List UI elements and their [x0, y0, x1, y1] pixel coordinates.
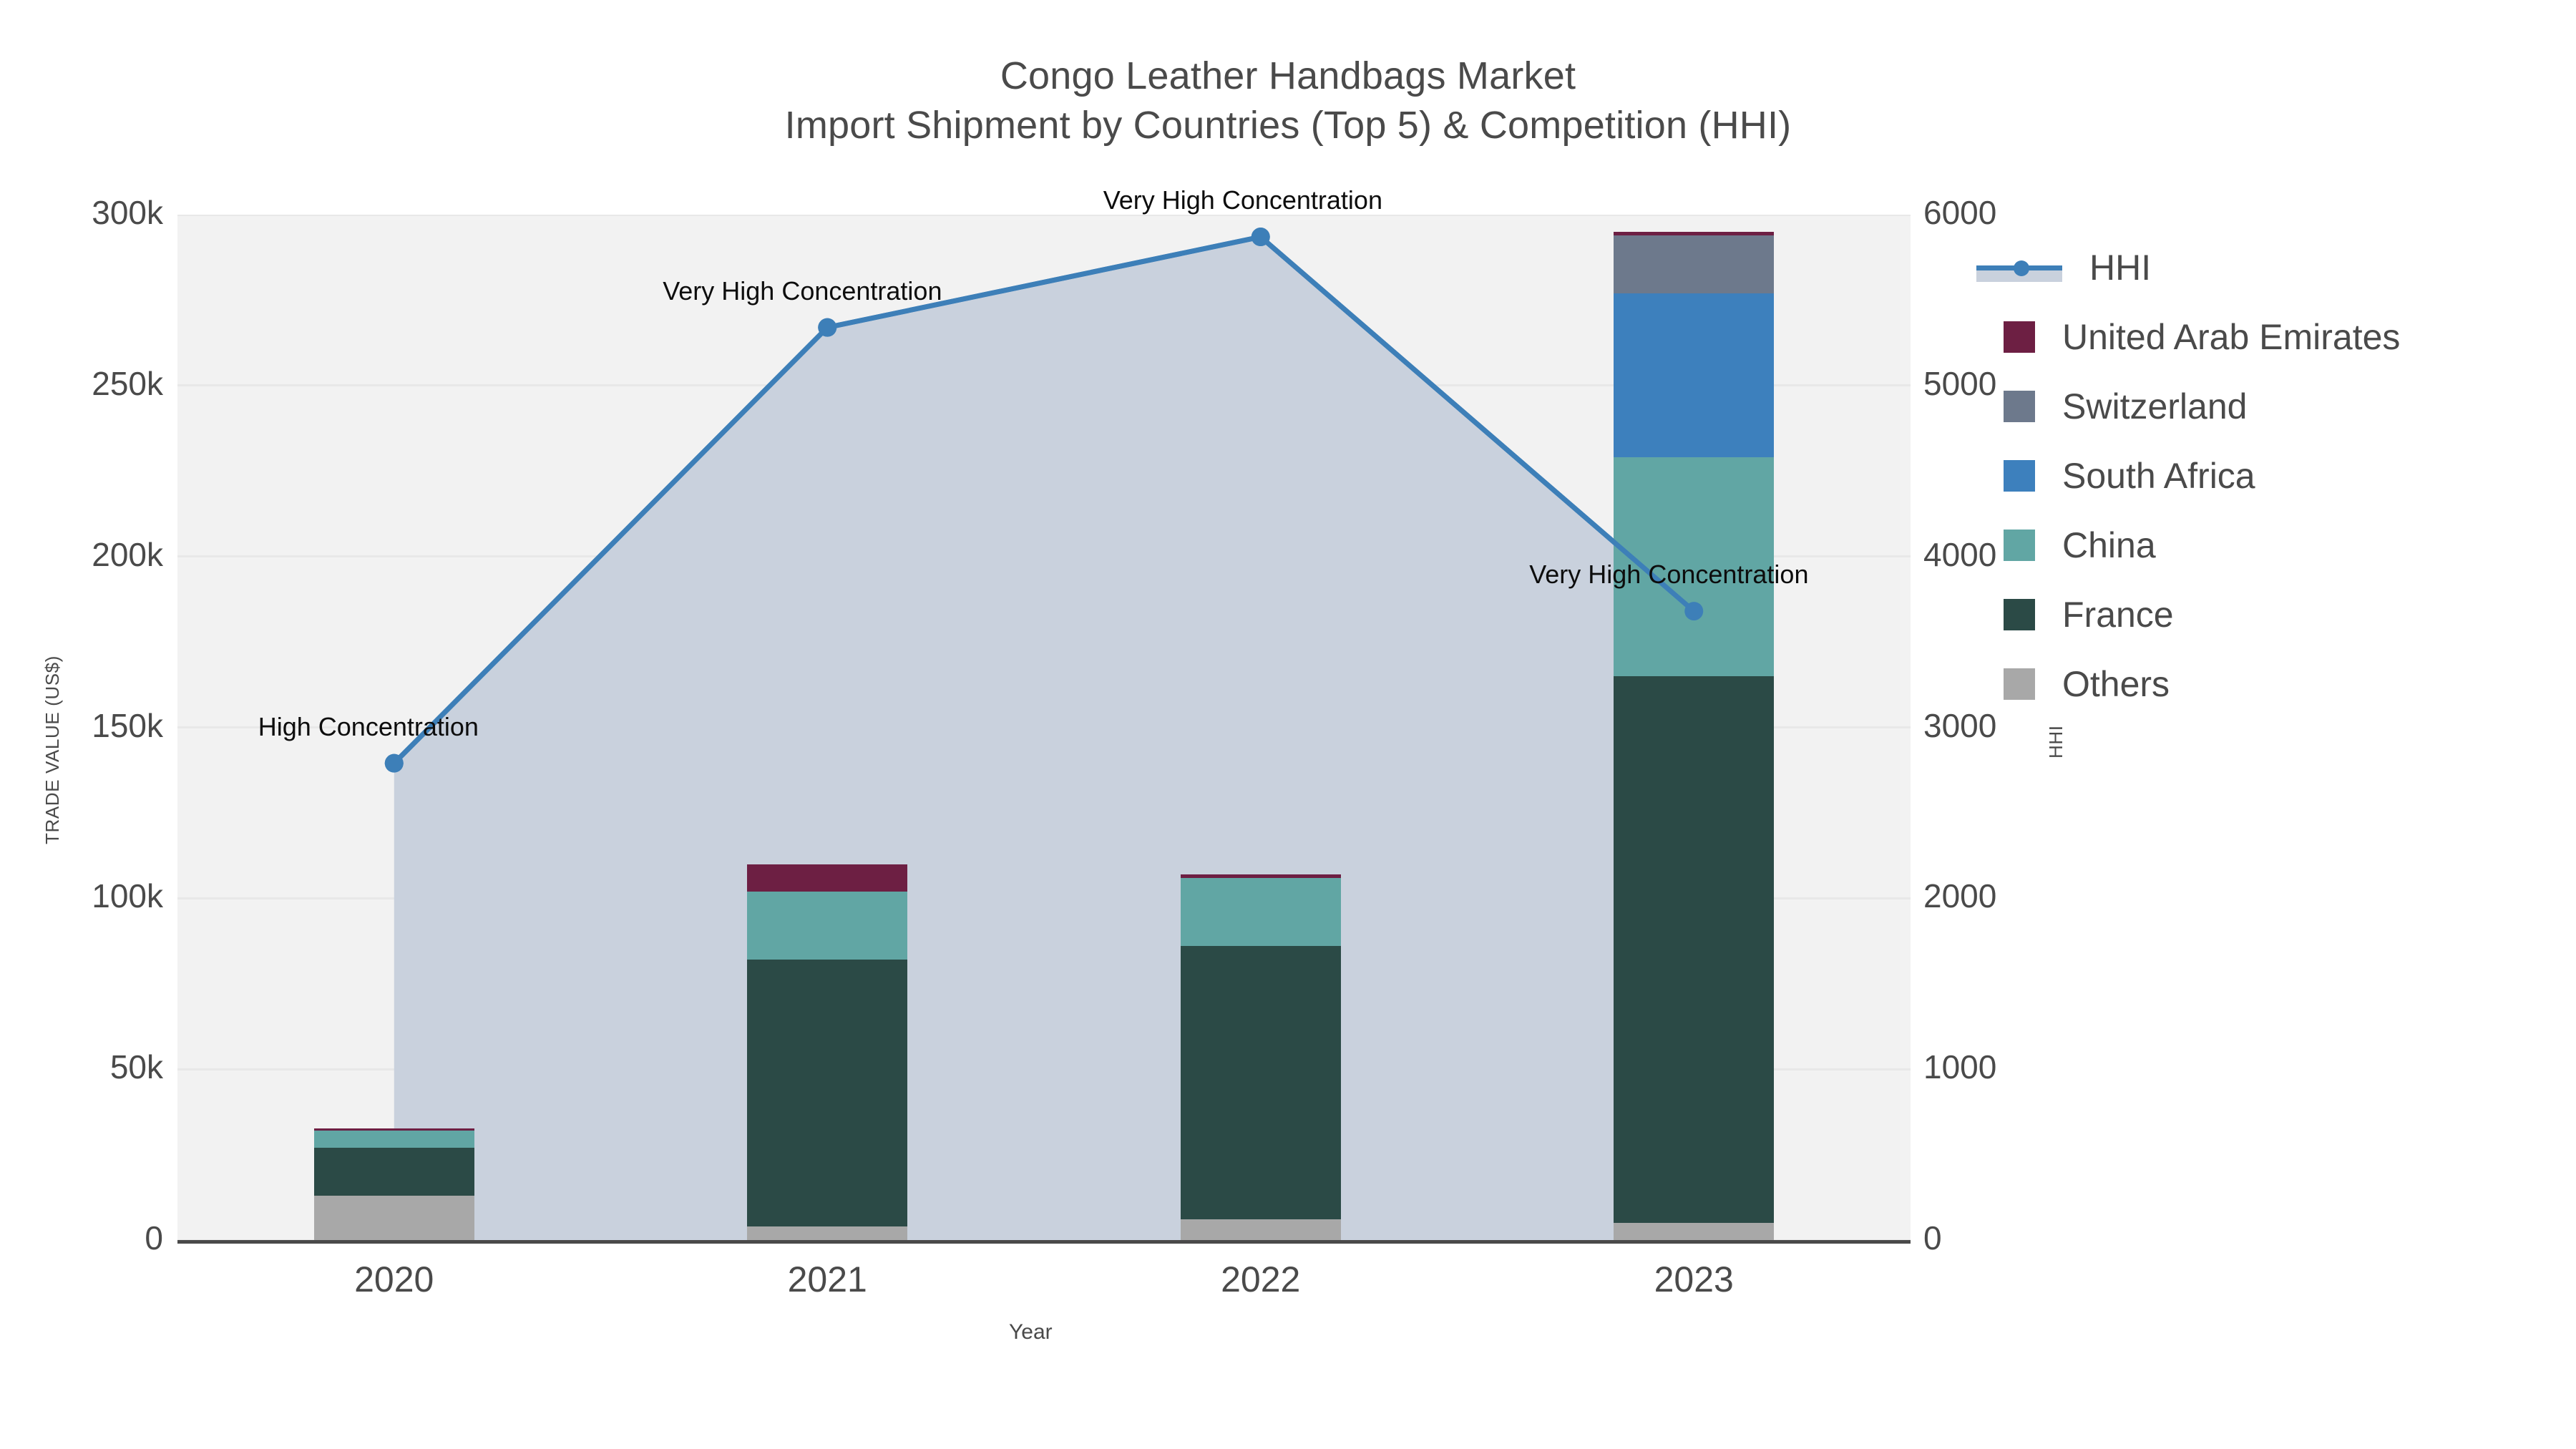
y-tick-left: 300k [34, 193, 163, 232]
y-tick-left: 50k [34, 1048, 163, 1086]
y-tick-left: 250k [34, 364, 163, 403]
y-tick-left: 0 [34, 1219, 163, 1257]
legend-item-south-africa[interactable]: South Africa [2004, 441, 2400, 510]
legend-line-icon [1976, 252, 2062, 283]
y-tick-right: 5000 [1923, 364, 1996, 403]
x-tick-2023: 2023 [1586, 1259, 1801, 1300]
legend: HHIUnited Arab EmiratesSwitzerlandSouth … [2004, 233, 2400, 718]
y-tick-right: 6000 [1923, 193, 1996, 232]
annotation-2022: Very High Concentration [1103, 185, 1382, 215]
legend-label: France [2062, 594, 2174, 635]
legend-label: Others [2062, 663, 2170, 705]
legend-item-switzerland[interactable]: Switzerland [2004, 371, 2400, 441]
chart-title: Congo Leather Handbags Market Import Shi… [0, 52, 2576, 150]
legend-label: China [2062, 525, 2156, 566]
y-tick-right: 2000 [1923, 877, 1996, 915]
annotation-2023: Very High Concentration [1529, 560, 1808, 590]
x-axis-label: Year [1009, 1320, 1053, 1345]
annotation-2021: Very High Concentration [663, 276, 942, 306]
y-axis-right-label: HHI [2045, 725, 2067, 758]
legend-swatch-icon [2004, 391, 2035, 422]
legend-label: South Africa [2062, 455, 2255, 497]
legend-swatch-icon [2004, 460, 2035, 492]
legend-item-france[interactable]: France [2004, 580, 2400, 649]
y-tick-left: 100k [34, 877, 163, 915]
legend-label: HHI [2089, 247, 2151, 288]
y-tick-right: 4000 [1923, 535, 1996, 574]
legend-item-hhi[interactable]: HHI [2004, 233, 2400, 302]
x-tick-2020: 2020 [287, 1259, 502, 1300]
x-tick-2022: 2022 [1153, 1259, 1368, 1300]
legend-label: United Arab Emirates [2062, 316, 2400, 358]
y-tick-right: 1000 [1923, 1048, 1996, 1086]
y-axis-left-label: TRADE VALUE (US$) [42, 655, 64, 844]
legend-swatch-icon [2004, 668, 2035, 700]
legend-swatch-icon [2004, 321, 2035, 353]
y-tick-left: 200k [34, 535, 163, 574]
legend-label: Switzerland [2062, 386, 2247, 427]
legend-swatch-icon [2004, 530, 2035, 561]
legend-item-others[interactable]: Others [2004, 649, 2400, 718]
y-tick-right: 0 [1923, 1219, 1942, 1257]
x-tick-2021: 2021 [720, 1259, 935, 1300]
annotation-2020: High Concentration [258, 712, 479, 742]
title-line-2: Import Shipment by Countries (Top 5) & C… [0, 101, 2576, 150]
chart-canvas: Congo Leather Handbags Market Import Shi… [0, 0, 2576, 1449]
legend-item-china[interactable]: China [2004, 510, 2400, 580]
legend-swatch-icon [2004, 599, 2035, 630]
y-tick-right: 3000 [1923, 706, 1996, 745]
legend-item-united-arab-emirates[interactable]: United Arab Emirates [2004, 302, 2400, 371]
title-line-1: Congo Leather Handbags Market [0, 52, 2576, 101]
x-axis-line [177, 1240, 1911, 1244]
